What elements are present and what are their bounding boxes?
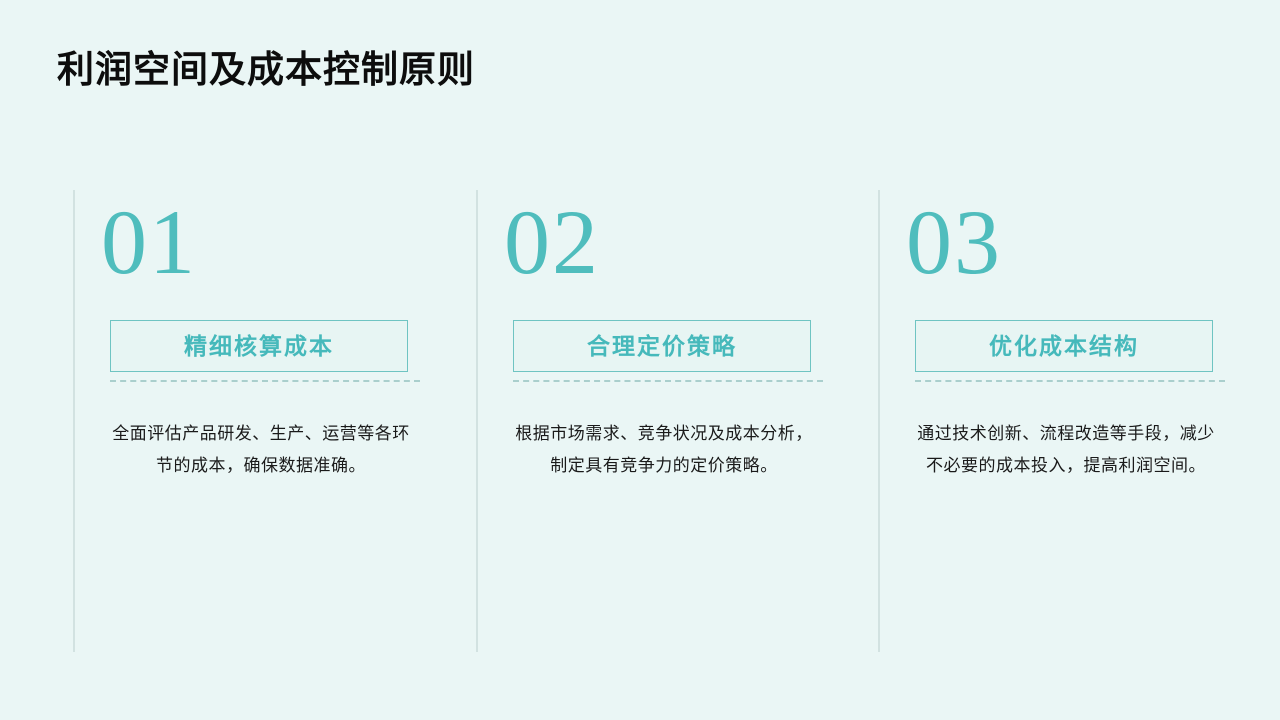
principle-number-1: 01 [101,196,197,288]
principle-number-3: 03 [906,196,1002,288]
principle-column-1: 01 精细核算成本 全面评估产品研发、生产、运营等各环节的成本，确保数据准确。 [73,190,475,654]
principle-body-3: 通过技术创新、流程改造等手段，减少不必要的成本投入，提高利润空间。 [916,418,1216,482]
column-divider-line [73,190,75,652]
dashed-separator-2 [513,380,823,382]
principle-heading-label-2: 合理定价策略 [587,335,737,358]
principle-body-1: 全面评估产品研发、生产、运营等各环节的成本，确保数据准确。 [111,418,411,482]
principle-column-2: 02 合理定价策略 根据市场需求、竞争状况及成本分析，制定具有竞争力的定价策略。 [476,190,878,654]
dashed-separator-1 [110,380,420,382]
dashed-separator-3 [915,380,1225,382]
slide: 利润空间及成本控制原则 01 精细核算成本 全面评估产品研发、生产、运营等各环节… [0,0,1280,720]
principles-columns: 01 精细核算成本 全面评估产品研发、生产、运营等各环节的成本，确保数据准确。 … [0,190,1280,654]
page-title: 利润空间及成本控制原则 [57,48,475,92]
principle-heading-label-3: 优化成本结构 [989,335,1139,358]
principle-heading-box-3: 优化成本结构 [915,320,1213,372]
principle-heading-box-1: 精细核算成本 [110,320,408,372]
column-divider-line [878,190,880,652]
principle-body-2: 根据市场需求、竞争状况及成本分析，制定具有竞争力的定价策略。 [514,418,814,482]
principle-column-3: 03 优化成本结构 通过技术创新、流程改造等手段，减少不必要的成本投入，提高利润… [878,190,1280,654]
principle-heading-label-1: 精细核算成本 [184,335,334,358]
column-divider-line [476,190,478,652]
principle-number-2: 02 [504,196,600,288]
principle-heading-box-2: 合理定价策略 [513,320,811,372]
